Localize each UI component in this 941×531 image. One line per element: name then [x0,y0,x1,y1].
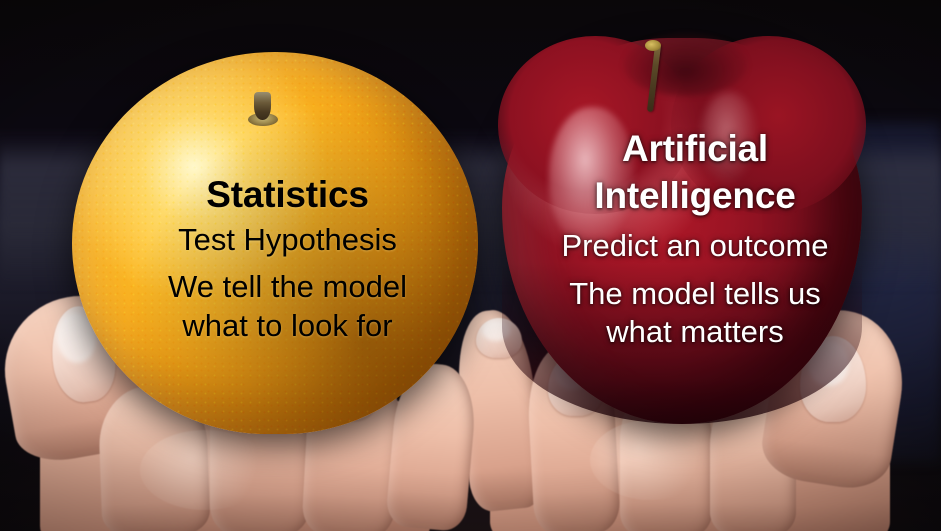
statistics-line-2: We tell the model [130,268,445,306]
apple-stem [643,40,665,112]
apple-stalk-tip [645,40,661,51]
statistics-title: Statistics [130,176,445,213]
left-knuckle-highlight [140,430,270,510]
ai-title-line-2: Intelligence [540,173,850,220]
ai-line-1: Predict an outcome [540,227,850,265]
statistics-line-3: what to look for [130,307,445,345]
orange-stem [248,92,278,126]
ai-line-3: what matters [540,313,850,351]
statistics-caption: Statistics Test Hypothesis We tell the m… [130,176,445,345]
ai-line-2: The model tells us [540,275,850,313]
ai-caption: Artificial Intelligence Predict an outco… [540,126,850,352]
image-canvas: Statistics Test Hypothesis We tell the m… [0,0,941,531]
statistics-line-1: Test Hypothesis [130,221,445,259]
orange-stem-core [254,92,271,120]
right-knuckle-highlight [590,420,710,500]
apple-stalk [647,44,661,112]
ai-title-line-1: Artificial [540,126,850,173]
ai-title: Artificial Intelligence [540,126,850,219]
